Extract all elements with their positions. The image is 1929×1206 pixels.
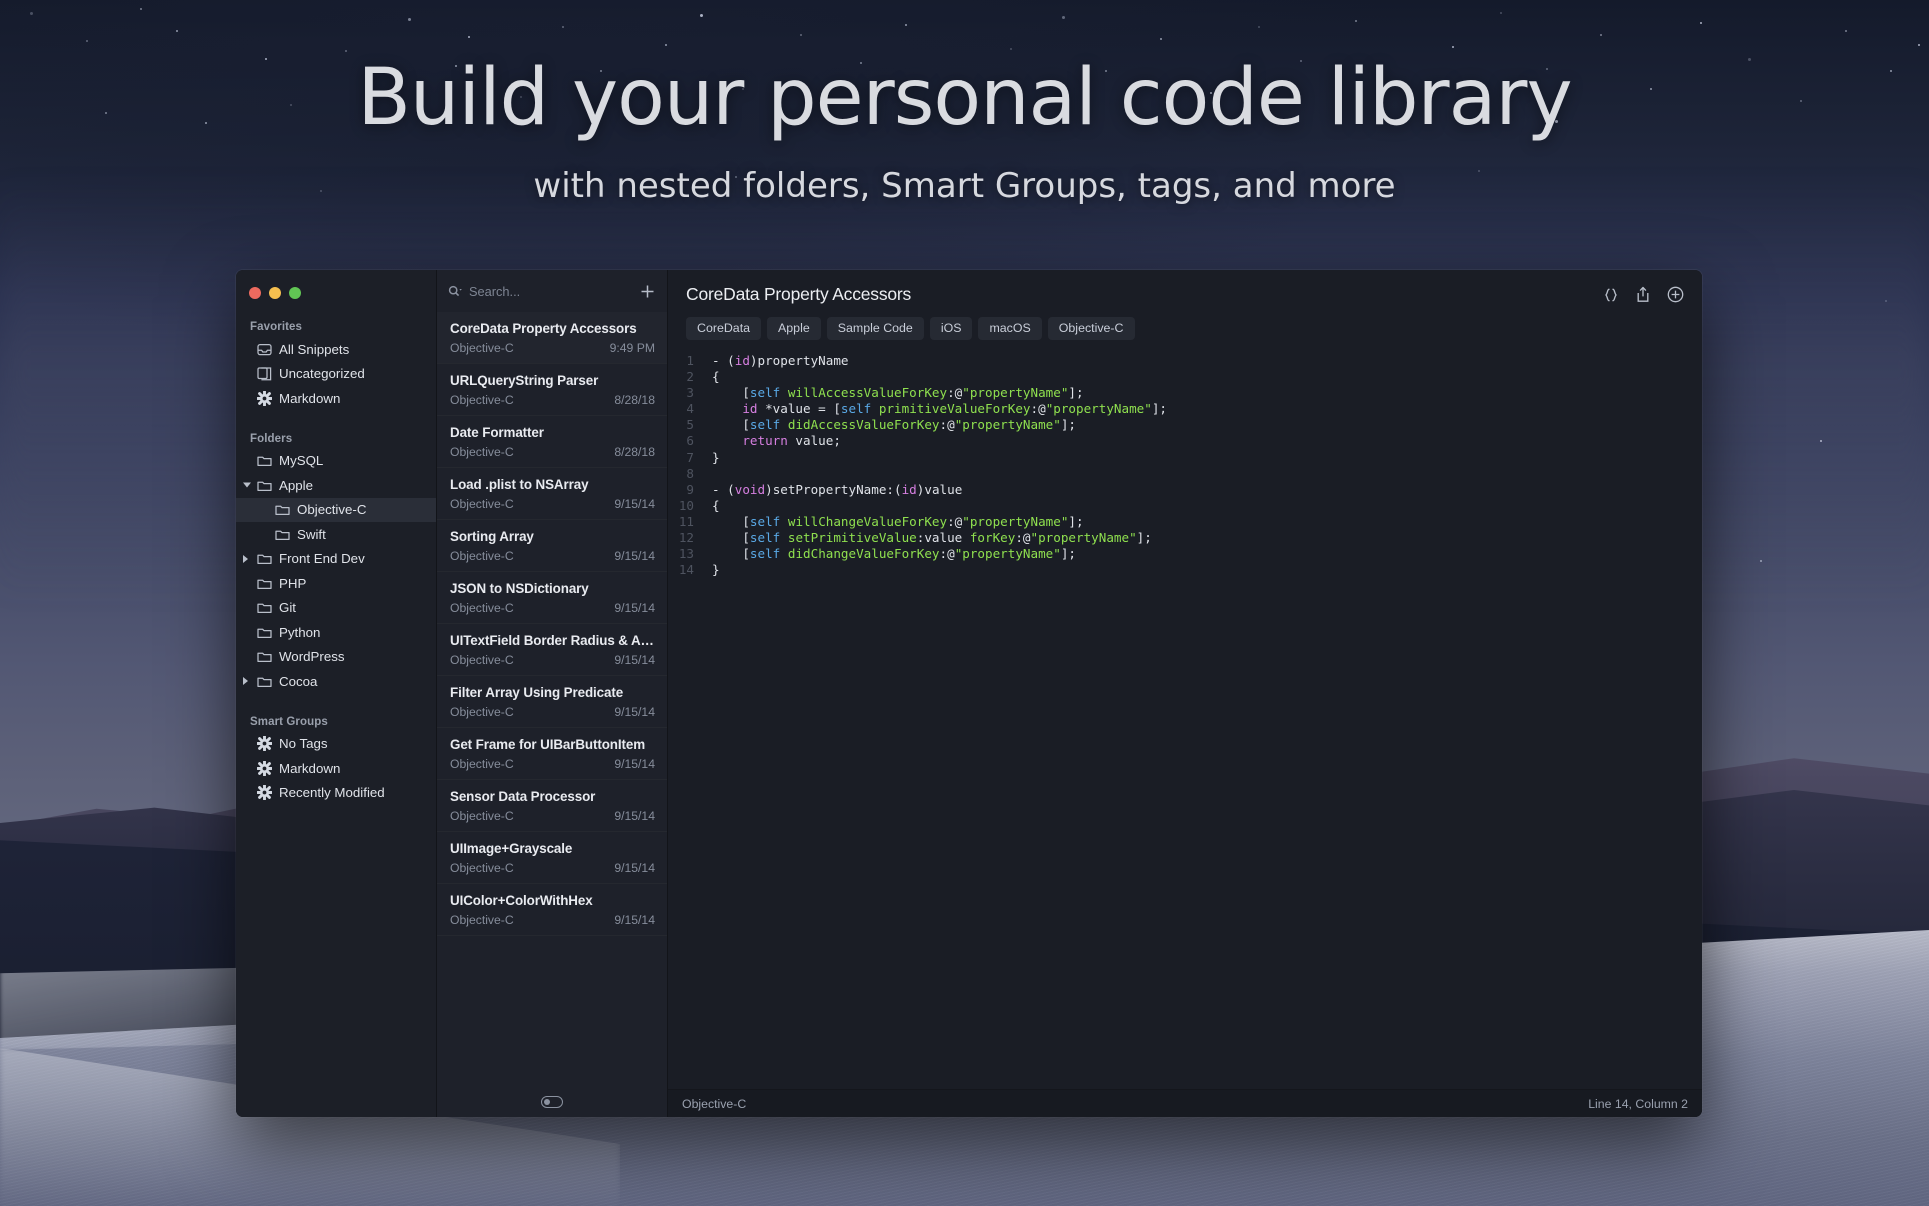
status-cursor-position: Line 14, Column 2 [1588, 1097, 1688, 1111]
stacked-pages-icon [256, 366, 272, 382]
snippet-item-language: Objective-C [450, 445, 514, 459]
hero-text-block: Build your personal code library with ne… [0, 58, 1929, 206]
sidebar-item-apple[interactable]: Apple [236, 473, 436, 498]
snippet-list-item[interactable]: UIImage+GrayscaleObjective-C9/15/14 [437, 832, 667, 884]
code-line: - (void)setPropertyName:(id)value [712, 482, 1702, 498]
folder-icon [256, 575, 272, 591]
sidebar-section-title: Folders [236, 433, 436, 449]
star [176, 30, 178, 32]
zoom-window-button[interactable] [289, 287, 301, 299]
snippet-item-meta: Objective-C9/15/14 [450, 705, 655, 719]
snippet-item-language: Objective-C [450, 757, 514, 771]
editor-header: CoreData Property Accessors [668, 270, 1702, 340]
folder-icon [256, 477, 272, 493]
share-icon[interactable] [1635, 286, 1651, 303]
snippet-item-date: 9/15/14 [614, 913, 655, 927]
snippet-item-date: 9/15/14 [614, 809, 655, 823]
folder-icon [274, 526, 290, 542]
line-number: 7 [668, 450, 694, 466]
snippet-item-date: 8/28/18 [614, 445, 655, 459]
star [1700, 22, 1702, 24]
snippet-item-meta: Objective-C9/15/14 [450, 549, 655, 563]
sidebar-item-markdown[interactable]: Markdown [236, 756, 436, 781]
snippet-item-title: URLQueryString Parser [450, 373, 655, 388]
line-number: 3 [668, 385, 694, 401]
snippet-item-date: 9/15/14 [614, 497, 655, 511]
star [700, 14, 703, 17]
snippet-item-title: UIColor+ColorWithHex [450, 893, 655, 908]
folder-icon [256, 649, 272, 665]
snippet-item-title: Load .plist to NSArray [450, 477, 655, 492]
folder-icon [256, 551, 272, 567]
star [800, 34, 802, 36]
sidebar-item-label: Python [279, 625, 320, 640]
code-line: - (id)propertyName [712, 353, 1702, 369]
braces-icon[interactable] [1603, 287, 1619, 303]
code-area[interactable]: 1234567891011121314 - (id)propertyName{ … [668, 353, 1702, 1089]
sidebar-item-label: MySQL [279, 453, 323, 468]
snippet-title[interactable]: CoreData Property Accessors [686, 284, 911, 305]
snippet-list[interactable]: CoreData Property AccessorsObjective-C9:… [437, 312, 667, 1087]
star [1355, 20, 1357, 22]
star [1258, 26, 1260, 28]
sidebar-item-label: Markdown [279, 391, 340, 406]
folder-icon [274, 502, 290, 518]
line-number: 5 [668, 417, 694, 433]
snippet-item-language: Objective-C [450, 549, 514, 563]
snippet-item-language: Objective-C [450, 861, 514, 875]
star [1820, 440, 1822, 442]
tag-pill[interactable]: Objective-C [1048, 317, 1135, 340]
tag-pill[interactable]: CoreData [686, 317, 761, 340]
star [1600, 34, 1602, 36]
search-magnifier-icon[interactable] [448, 285, 463, 298]
code-line: { [712, 498, 1702, 514]
star [30, 12, 33, 15]
snippet-item-title: Get Frame for UIBarButtonItem [450, 737, 655, 752]
snippet-item-meta: Objective-C9/15/14 [450, 497, 655, 511]
star [562, 26, 564, 28]
folder-icon [256, 600, 272, 616]
sidebar-section-title: Favorites [236, 321, 436, 337]
line-number: 2 [668, 369, 694, 385]
sidebar-item-label: Uncategorized [279, 366, 365, 381]
gear-icon [256, 760, 272, 776]
disclosure-triangle-closed-icon[interactable] [243, 677, 248, 685]
sidebar-item-swift[interactable]: Swift [236, 522, 436, 547]
sidebar-item-label: Apple [279, 478, 313, 493]
snippet-list-item[interactable]: JSON to NSDictionaryObjective-C9/15/14 [437, 572, 667, 624]
inbox-tray-icon [256, 341, 272, 357]
snippet-list-item[interactable]: Get Frame for UIBarButtonItemObjective-C… [437, 728, 667, 780]
sidebar-item-label: Cocoa [279, 674, 317, 689]
snippet-list-footer [437, 1087, 667, 1117]
snippet-list-item[interactable]: Sensor Data ProcessorObjective-C9/15/14 [437, 780, 667, 832]
code-line: [self willAccessValueForKey:@"propertyNa… [712, 385, 1702, 401]
code-line: } [712, 562, 1702, 578]
sidebar-item-label: Git [279, 600, 296, 615]
star [468, 36, 470, 38]
sidebar-item-git[interactable]: Git [236, 596, 436, 621]
sidebar-item-front-end-dev[interactable]: Front End Dev [236, 547, 436, 572]
star [1062, 16, 1065, 19]
snippet-item-date: 9/15/14 [614, 757, 655, 771]
code-line: { [712, 369, 1702, 385]
snippet-list-item[interactable]: Load .plist to NSArrayObjective-C9/15/14 [437, 468, 667, 520]
snippet-list-column: Search... CoreData Property AccessorsObj… [436, 270, 668, 1117]
snippet-item-meta: Objective-C9/15/14 [450, 913, 655, 927]
status-bar: Objective-C Line 14, Column 2 [668, 1089, 1702, 1117]
code-line: return value; [712, 433, 1702, 449]
snippet-item-title: UITextField Border Radius & Attribu… [450, 633, 655, 648]
sidebar-section-title: Smart Groups [236, 716, 436, 732]
star [345, 50, 347, 52]
code-line: id *value = [self primitiveValueForKey:@… [712, 401, 1702, 417]
snippet-item-language: Objective-C [450, 653, 514, 667]
sidebar-item-wordpress[interactable]: WordPress [236, 645, 436, 670]
snippet-item-meta: Objective-C9/15/14 [450, 809, 655, 823]
star [1845, 30, 1847, 32]
star [1760, 560, 1762, 562]
line-number: 11 [668, 514, 694, 530]
line-number: 14 [668, 562, 694, 578]
search-placeholder: Search... [469, 284, 520, 299]
code-line: } [712, 450, 1702, 466]
star [1160, 38, 1162, 40]
folder-icon [256, 624, 272, 640]
disclosure-triangle-closed-icon[interactable] [243, 555, 248, 563]
window-traffic-lights [236, 276, 436, 299]
line-number: 9 [668, 482, 694, 498]
gear-icon [256, 785, 272, 801]
code-line: [self didChangeValueForKey:@"propertyNam… [712, 546, 1702, 562]
sidebar: FavoritesAll SnippetsUncategorizedMarkdo… [236, 270, 436, 1117]
sidebar-item-label: Recently Modified [279, 785, 385, 800]
sidebar-item-label: All Snippets [279, 342, 349, 357]
snippet-item-language: Objective-C [450, 393, 514, 407]
sidebar-item-objective-c[interactable]: Objective-C [236, 498, 436, 523]
snippet-item-language: Objective-C [450, 497, 514, 511]
tag-pill[interactable]: Sample Code [827, 317, 924, 340]
tag-pill[interactable]: iOS [930, 317, 973, 340]
line-number: 8 [668, 466, 694, 482]
sidebar-item-all-snippets[interactable]: All Snippets [236, 337, 436, 362]
snippet-item-meta: Objective-C9/15/14 [450, 601, 655, 615]
sidebar-item-no-tags[interactable]: No Tags [236, 732, 436, 757]
star [1918, 44, 1920, 46]
star [665, 44, 667, 46]
sidebar-item-label: Swift [297, 527, 326, 542]
code-line: [self setPrimitiveValue:value forKey:@"p… [712, 530, 1702, 546]
snippet-item-title: Date Formatter [450, 425, 655, 440]
star [1010, 48, 1012, 50]
snippet-item-date: 9/15/14 [614, 601, 655, 615]
snippet-item-date: 9/15/14 [614, 549, 655, 563]
disclosure-triangle-open-icon[interactable] [243, 483, 251, 488]
close-window-button[interactable] [249, 287, 261, 299]
sidebar-item-uncategorized[interactable]: Uncategorized [236, 362, 436, 387]
snippet-list-item[interactable]: Sorting ArrayObjective-C9/15/14 [437, 520, 667, 572]
snippet-item-meta: Objective-C9:49 PM [450, 341, 655, 355]
star [1885, 300, 1887, 302]
sidebar-item-cocoa[interactable]: Cocoa [236, 669, 436, 694]
sidebar-item-label: PHP [279, 576, 306, 591]
toggle-switch-icon[interactable] [541, 1096, 563, 1108]
snippet-item-meta: Objective-C8/28/18 [450, 393, 655, 407]
snippet-item-language: Objective-C [450, 705, 514, 719]
snippet-list-item[interactable]: UIColor+ColorWithHexObjective-C9/15/14 [437, 884, 667, 936]
search-input[interactable]: Search... [469, 284, 631, 299]
sidebar-item-label: Markdown [279, 761, 340, 776]
snippet-item-date: 9/15/14 [614, 705, 655, 719]
snippet-item-title: JSON to NSDictionary [450, 581, 655, 596]
hero-subheadline: with nested folders, Smart Groups, tags,… [0, 166, 1929, 206]
code-content[interactable]: - (id)propertyName{ [self willAccessValu… [702, 353, 1702, 1089]
new-snippet-button[interactable] [637, 281, 657, 301]
star [86, 40, 88, 42]
snippet-item-meta: Objective-C9/15/14 [450, 757, 655, 771]
snippet-item-language: Objective-C [450, 809, 514, 823]
snippet-item-title: Filter Array Using Predicate [450, 685, 655, 700]
sidebar-item-label: Front End Dev [279, 551, 365, 566]
add-circle-icon[interactable] [1667, 286, 1684, 303]
snippet-item-meta: Objective-C9/15/14 [450, 653, 655, 667]
snippet-item-date: 9:49 PM [610, 341, 655, 355]
sidebar-item-python[interactable]: Python [236, 620, 436, 645]
snippet-item-date: 9/15/14 [614, 861, 655, 875]
snippet-item-title: UIImage+Grayscale [450, 841, 655, 856]
star [140, 8, 142, 10]
snippet-item-meta: Objective-C9/15/14 [450, 861, 655, 875]
sidebar-item-label: WordPress [279, 649, 345, 664]
sidebar-item-label: No Tags [279, 736, 328, 751]
snippet-item-title: CoreData Property Accessors [450, 321, 655, 336]
line-number: 13 [668, 546, 694, 562]
snippet-item-title: Sorting Array [450, 529, 655, 544]
code-line: [self didAccessValueForKey:@"propertyNam… [712, 417, 1702, 433]
line-number: 10 [668, 498, 694, 514]
status-language: Objective-C [682, 1097, 746, 1111]
snippet-item-language: Objective-C [450, 341, 514, 355]
sidebar-item-php[interactable]: PHP [236, 571, 436, 596]
code-line [712, 466, 1702, 482]
line-number: 1 [668, 353, 694, 369]
search-bar: Search... [437, 270, 667, 312]
snippet-item-language: Objective-C [450, 913, 514, 927]
gear-icon [256, 736, 272, 752]
star [905, 24, 907, 26]
editor-actions [1603, 284, 1684, 303]
hero-headline: Build your personal code library [0, 58, 1929, 140]
snippet-item-date: 8/28/18 [614, 393, 655, 407]
gear-icon [256, 390, 272, 406]
line-number: 12 [668, 530, 694, 546]
sidebar-item-recently-modified[interactable]: Recently Modified [236, 781, 436, 806]
sidebar-item-label: Objective-C [297, 502, 366, 517]
tag-pill[interactable]: macOS [978, 317, 1041, 340]
star [1452, 46, 1454, 48]
line-number: 4 [668, 401, 694, 417]
snippet-item-meta: Objective-C8/28/18 [450, 445, 655, 459]
app-window: FavoritesAll SnippetsUncategorizedMarkdo… [236, 270, 1702, 1117]
snippet-list-item[interactable]: Date FormatterObjective-C8/28/18 [437, 416, 667, 468]
snippet-list-item[interactable]: UITextField Border Radius & Attribu…Obje… [437, 624, 667, 676]
folder-icon [256, 673, 272, 689]
star [1500, 12, 1502, 14]
sidebar-item-mysql[interactable]: MySQL [236, 449, 436, 474]
snippet-list-item[interactable]: URLQueryString ParserObjective-C8/28/18 [437, 364, 667, 416]
desktop-background: Build your personal code library with ne… [0, 0, 1929, 1206]
snippet-list-item[interactable]: CoreData Property AccessorsObjective-C9:… [437, 312, 667, 364]
tag-pill[interactable]: Apple [767, 317, 821, 340]
snippet-list-item[interactable]: Filter Array Using PredicateObjective-C9… [437, 676, 667, 728]
star [408, 18, 411, 21]
line-number: 6 [668, 433, 694, 449]
snippet-item-language: Objective-C [450, 601, 514, 615]
tag-list: CoreDataAppleSample CodeiOSmacOSObjectiv… [686, 317, 1684, 340]
snippet-item-date: 9/15/14 [614, 653, 655, 667]
snippet-editor: CoreData Property Accessors [668, 270, 1702, 1117]
code-line: [self willChangeValueForKey:@"propertyNa… [712, 514, 1702, 530]
folder-icon [256, 453, 272, 469]
line-number-gutter: 1234567891011121314 [668, 353, 702, 1089]
minimize-window-button[interactable] [269, 287, 281, 299]
snippet-item-title: Sensor Data Processor [450, 789, 655, 804]
sidebar-item-markdown[interactable]: Markdown [236, 386, 436, 411]
